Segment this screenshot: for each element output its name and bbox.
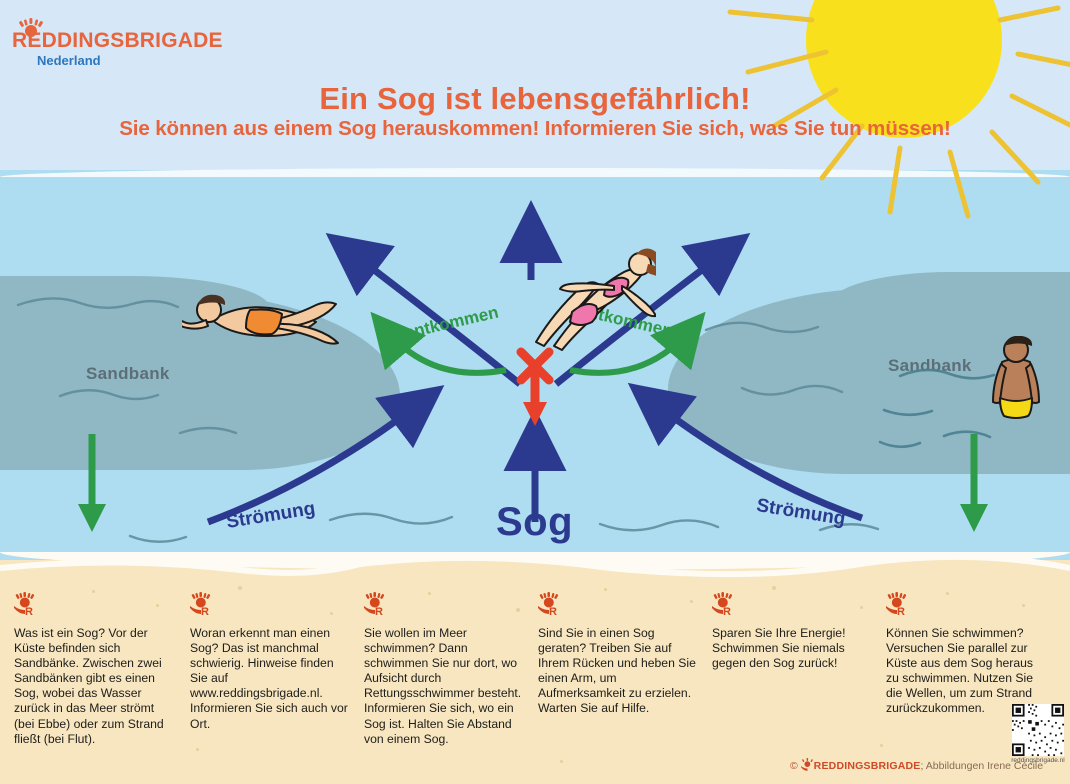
sand-speck	[238, 586, 242, 590]
sog-label: Sog	[496, 500, 573, 545]
standing-man-illustration	[982, 336, 1058, 432]
tips-row: R Was ist ein Sog? Vor der Küste befinde…	[0, 592, 1070, 784]
svg-text:R: R	[25, 606, 33, 616]
page-title: Ein Sog ist lebensgefährlich!	[0, 81, 1070, 117]
lifesaver-mark-icon: R	[14, 592, 36, 616]
tip-card-4: R Sind Sie in einen Sog geraten? Treiben…	[538, 592, 696, 717]
tip-text: Sie wollen im Meer schwimmen? Dann schwi…	[364, 626, 522, 747]
svg-text:R: R	[375, 606, 383, 616]
svg-text:R: R	[201, 606, 209, 616]
lifesaver-mark-icon	[17, 18, 45, 44]
floating-woman-illustration	[506, 228, 656, 354]
svg-text:R: R	[897, 606, 905, 616]
lifesaver-mark-icon: R	[712, 592, 734, 616]
tip-text: Sparen Sie Ihre Energie! Schwimmen Sie n…	[712, 626, 870, 671]
page-subtitle: Sie können aus einem Sog herauskommen! I…	[0, 117, 1070, 141]
sand-speck	[772, 586, 776, 590]
lifesaver-mark-icon: R	[538, 592, 560, 616]
tip-card-1: R Was ist ein Sog? Vor der Küste befinde…	[14, 592, 172, 747]
tip-card-2: R Woran erkennt man einen Sog? Das ist m…	[190, 592, 348, 732]
copyright-symbol: ©	[790, 760, 798, 772]
tip-card-5: R Sparen Sie Ihre Energie! Schwimmen Sie…	[712, 592, 870, 671]
lifesaver-mark-icon	[801, 758, 814, 772]
qr-code[interactable]	[1012, 704, 1064, 756]
swimmer-man-illustration	[182, 276, 342, 362]
lifesaver-mark-icon: R	[886, 592, 908, 616]
tip-text: Was ist ein Sog? Vor der Küste befinden …	[14, 626, 172, 747]
tip-text: Woran erkennt man einen Sog? Das ist man…	[190, 626, 348, 732]
brand-logo[interactable]: REDDINGSBRIGADE Nederland	[12, 30, 223, 68]
tip-text: Sind Sie in einen Sog geraten? Treiben S…	[538, 626, 696, 717]
lifesaver-mark-icon: R	[190, 592, 212, 616]
tip-card-3: R Sie wollen im Meer schwimmen? Dann sch…	[364, 592, 522, 747]
infographic-canvas: Sandbank Sandbank	[0, 0, 1070, 784]
tip-text: Können Sie schwimmen? Versuchen Sie para…	[886, 626, 1044, 717]
copyright-brand: REDDINGSBRIGADE	[814, 760, 921, 772]
lifesaver-mark-icon: R	[364, 592, 386, 616]
sand-speck	[604, 588, 607, 591]
brand-country: Nederland	[37, 53, 223, 68]
svg-text:R: R	[723, 606, 731, 616]
svg-text:R: R	[549, 606, 557, 616]
tip-card-6: R Können Sie schwimmen? Versuchen Sie pa…	[886, 592, 1044, 717]
qr-caption: reddingsbrigade.nl	[1006, 757, 1070, 764]
